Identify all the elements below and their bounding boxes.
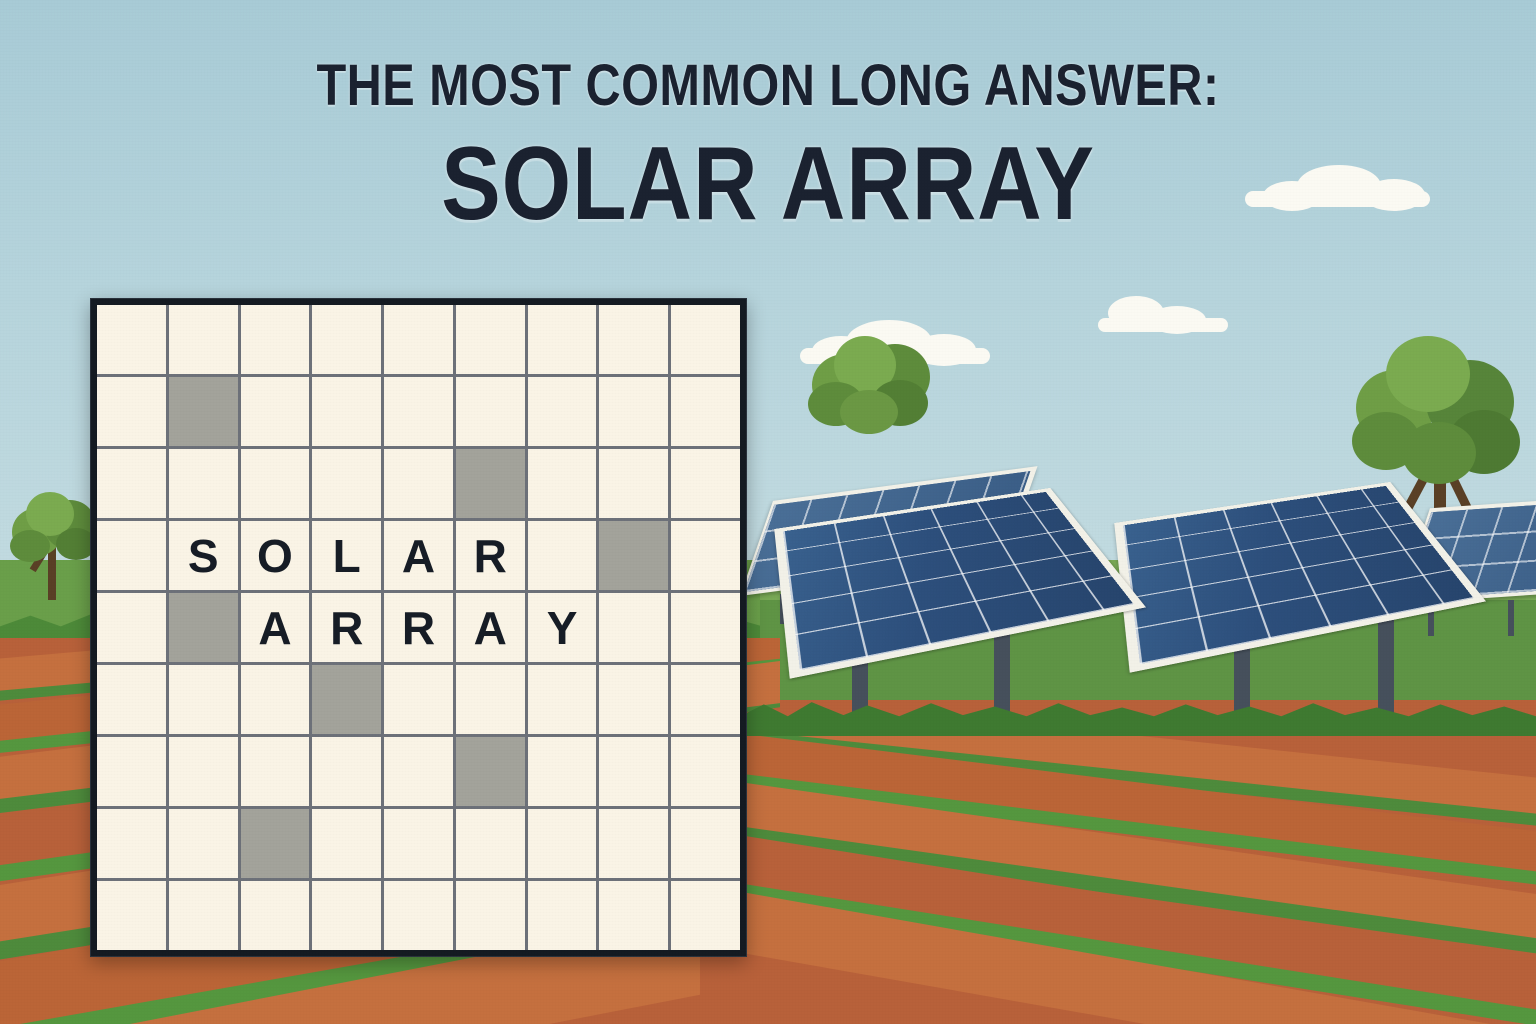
crossword-cell[interactable] [384, 809, 453, 878]
crossword-cell[interactable] [169, 881, 238, 950]
crossword-cell[interactable] [599, 305, 668, 374]
crossword-cell[interactable] [528, 305, 597, 374]
crossword-cell[interactable] [384, 737, 453, 806]
crossword-cell[interactable] [241, 377, 310, 446]
crossword-cell[interactable] [169, 665, 238, 734]
crossword-cell[interactable] [384, 881, 453, 950]
crossword-cell-letter[interactable]: A [384, 521, 453, 590]
crossword-cell[interactable] [671, 881, 740, 950]
crossword-cell[interactable] [312, 809, 381, 878]
crossword-cell[interactable] [97, 305, 166, 374]
crossword-cell[interactable] [599, 737, 668, 806]
crossword-cell-letter[interactable]: A [456, 593, 525, 662]
crossword-cell[interactable] [241, 737, 310, 806]
crossword-cell[interactable] [456, 377, 525, 446]
crossword-cell[interactable] [671, 809, 740, 878]
crossword-cell[interactable] [241, 305, 310, 374]
crossword-cell-blocked [169, 377, 238, 446]
crossword-cell[interactable] [97, 377, 166, 446]
poster-title: THE MOST COMMON LONG ANSWER: SOLAR ARRAY [0, 0, 1536, 244]
crossword-cell[interactable] [599, 881, 668, 950]
solar-panel-row-front-right [1120, 418, 1470, 748]
crossword-cell[interactable] [384, 377, 453, 446]
crossword-cell[interactable] [528, 377, 597, 446]
tree-left [8, 492, 100, 602]
crossword-cell[interactable] [528, 665, 597, 734]
crossword-cell[interactable] [97, 809, 166, 878]
crossword-cell[interactable] [97, 881, 166, 950]
crossword-cell[interactable] [97, 593, 166, 662]
crossword-cell[interactable] [456, 305, 525, 374]
crossword-cell[interactable] [528, 521, 597, 590]
crossword-cell-blocked [599, 521, 668, 590]
title-line-2: SOLAR ARRAY [108, 125, 1429, 244]
crossword-cell-letter[interactable]: R [312, 593, 381, 662]
cloud-mid-right [1098, 296, 1228, 330]
crossword-cell[interactable] [312, 449, 381, 518]
crossword-cell-letter[interactable]: A [241, 593, 310, 662]
crossword-cell[interactable] [456, 809, 525, 878]
crossword-cell[interactable] [169, 809, 238, 878]
crossword-cell[interactable] [599, 665, 668, 734]
crossword-cell[interactable] [528, 449, 597, 518]
crossword-cell[interactable] [599, 809, 668, 878]
crossword-cell-letter[interactable]: R [384, 593, 453, 662]
crossword-cell[interactable] [312, 737, 381, 806]
crossword-cell[interactable] [312, 377, 381, 446]
crossword-cell[interactable] [528, 881, 597, 950]
crossword-cell[interactable] [671, 665, 740, 734]
crossword-cell-blocked [241, 809, 310, 878]
crossword-cell[interactable] [671, 737, 740, 806]
crossword-cell[interactable] [312, 305, 381, 374]
crossword-cell[interactable] [241, 665, 310, 734]
crossword-cell[interactable] [97, 449, 166, 518]
crossword-cell[interactable] [169, 449, 238, 518]
crossword-cell[interactable] [241, 881, 310, 950]
ploughed-field-right [700, 736, 1536, 1024]
crossword-cell[interactable] [384, 665, 453, 734]
crossword-cell[interactable] [528, 737, 597, 806]
crossword-cell[interactable] [599, 377, 668, 446]
crossword-cell[interactable] [671, 521, 740, 590]
crossword-cell[interactable] [456, 881, 525, 950]
crossword-cell[interactable] [312, 881, 381, 950]
crossword-cell-letter[interactable]: L [312, 521, 381, 590]
solar-panel-row-front-left [780, 424, 1130, 754]
crossword-cell-blocked [456, 737, 525, 806]
crossword-cell-letter[interactable]: R [456, 521, 525, 590]
crossword-cell[interactable] [241, 449, 310, 518]
poster-canvas: THE MOST COMMON LONG ANSWER: SOLAR ARRAY… [0, 0, 1536, 1024]
crossword-cell[interactable] [671, 449, 740, 518]
crossword-puzzle[interactable]: SOLARARRAY [90, 298, 747, 957]
crossword-cell[interactable] [671, 593, 740, 662]
crossword-cell[interactable] [97, 521, 166, 590]
crossword-cell[interactable] [599, 449, 668, 518]
crossword-cell-letter[interactable]: Y [528, 593, 597, 662]
crossword-cell-blocked [312, 665, 381, 734]
crossword-cell-letter[interactable]: O [241, 521, 310, 590]
crossword-cell[interactable] [97, 665, 166, 734]
crossword-cell[interactable] [671, 377, 740, 446]
crossword-cell[interactable] [384, 305, 453, 374]
crossword-cell[interactable] [528, 809, 597, 878]
crossword-cell[interactable] [456, 665, 525, 734]
crossword-cell[interactable] [384, 449, 453, 518]
crossword-cell[interactable] [169, 737, 238, 806]
title-line-1: THE MOST COMMON LONG ANSWER: [123, 52, 1413, 119]
crossword-cell[interactable] [169, 305, 238, 374]
crossword-cell-blocked [169, 593, 238, 662]
crossword-cell[interactable] [599, 593, 668, 662]
crossword-cell[interactable] [671, 305, 740, 374]
crossword-cell-blocked [456, 449, 525, 518]
crossword-cell-letter[interactable]: S [169, 521, 238, 590]
crossword-grid[interactable]: SOLARARRAY [97, 305, 740, 950]
crossword-cell[interactable] [97, 737, 166, 806]
